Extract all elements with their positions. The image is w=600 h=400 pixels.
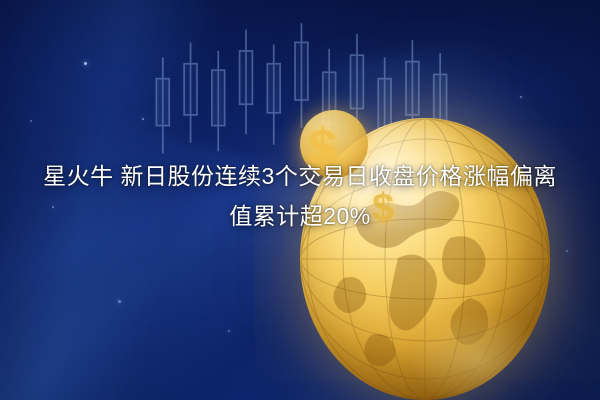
headline-text: 星火牛 新日股份连续3个交易日收盘价格涨幅偏离 值累计超20% [0, 156, 600, 236]
particle-dot [118, 300, 121, 303]
particle-dot [142, 118, 144, 120]
particle-dot [30, 120, 32, 122]
news-cover-image: $ $ 星火牛 新日股份连续3个交易日收盘价格涨幅偏离 值累计超20% [0, 0, 600, 400]
particle-dot [520, 96, 522, 98]
particle-dot [84, 62, 87, 65]
particle-dot [228, 330, 230, 332]
headline-line-1: 星火牛 新日股份连续3个交易日收盘价格涨幅偏离 [8, 156, 592, 196]
particle-dot [566, 250, 568, 252]
headline-line-2: 值累计超20% [8, 196, 592, 236]
